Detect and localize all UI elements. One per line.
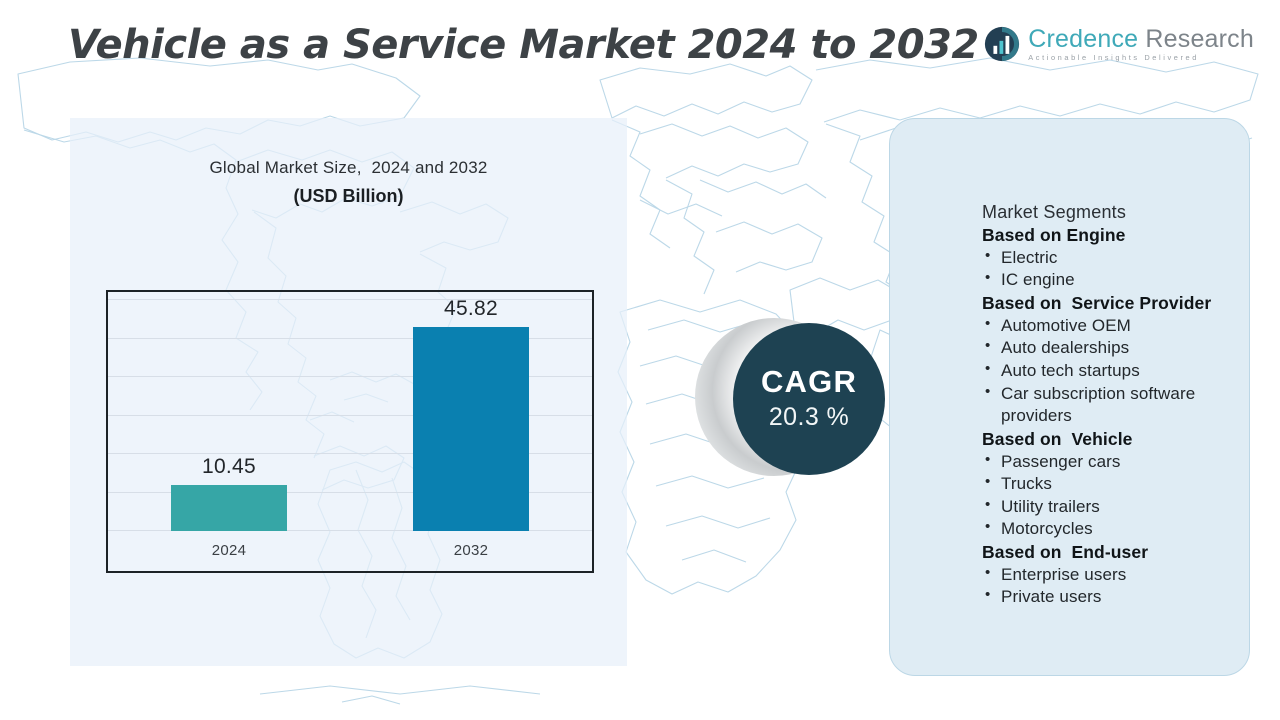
segment-item: Auto tech startups: [982, 360, 1249, 383]
segment-item: Motorcycles: [982, 518, 1249, 541]
chart-panel: Global Market Size, 2024 and 2032 (USD B…: [70, 118, 627, 666]
credence-research-logo[interactable]: Credence Research Actionable Insights De…: [984, 26, 1254, 62]
segment-item: Electric: [982, 247, 1249, 270]
chart-units-label: (USD Billion): [70, 186, 627, 207]
segment-item: Trucks: [982, 473, 1249, 496]
logo-brand-credence: Credence: [1028, 25, 1138, 53]
segment-item: IC engine: [982, 269, 1249, 292]
logo-wordmark: Credence Research: [1028, 27, 1254, 52]
segment-item: Passenger cars: [982, 451, 1249, 474]
infographic-root: Vehicle as a Service Market 2024 to 2032…: [0, 0, 1280, 720]
page-title: Vehicle as a Service Market 2024 to 2032: [68, 22, 979, 68]
market-segments-heading: Market Segments: [982, 201, 1249, 224]
segment-item: Enterprise users: [982, 564, 1249, 587]
chart-category-label: 2032: [401, 542, 541, 559]
chart-subtitle: Global Market Size, 2024 and 2032: [70, 158, 627, 178]
segment-item-list: Enterprise usersPrivate users: [982, 564, 1249, 609]
segment-group-title: Based on Engine: [982, 224, 1249, 247]
market-segments-groups: Based on EngineElectricIC engineBased on…: [982, 224, 1249, 609]
chart-bar-value-label: 45.82: [401, 297, 541, 321]
chart-bar-value-label: 10.45: [159, 455, 299, 479]
chart-bar: [171, 485, 287, 531]
market-segments-panel: Market Segments Based on EngineElectricI…: [889, 118, 1250, 676]
logo-brand-research: Research: [1138, 25, 1254, 53]
cagr-value: 20.3 %: [769, 403, 849, 432]
segment-group-title: Based on Service Provider: [982, 292, 1249, 315]
chart-category-label: 2024: [159, 542, 299, 559]
segment-item-list: Passenger carsTrucksUtility trailersMoto…: [982, 451, 1249, 541]
cagr-bubble: CAGR 20.3 %: [733, 323, 885, 475]
bar-chart-circle-logo-icon: [984, 26, 1020, 62]
segment-item: Private users: [982, 586, 1249, 609]
segment-group-title: Based on End-user: [982, 541, 1249, 564]
segment-item: Utility trailers: [982, 496, 1249, 519]
segment-item: Car subscription software providers: [982, 383, 1249, 428]
segment-group-title: Based on Vehicle: [982, 428, 1249, 451]
cagr-label: CAGR: [761, 366, 857, 399]
segment-item-list: ElectricIC engine: [982, 247, 1249, 292]
bar-chart-plot-area: 10.4545.82 20242032: [106, 290, 594, 573]
segment-item: Automotive OEM: [982, 315, 1249, 338]
chart-bar: [413, 327, 529, 531]
segment-item-list: Automotive OEMAuto dealershipsAuto tech …: [982, 315, 1249, 428]
segment-item: Auto dealerships: [982, 337, 1249, 360]
logo-tagline: Actionable Insights Delivered: [1028, 54, 1254, 61]
logo-text-group: Credence Research Actionable Insights De…: [1028, 27, 1254, 61]
